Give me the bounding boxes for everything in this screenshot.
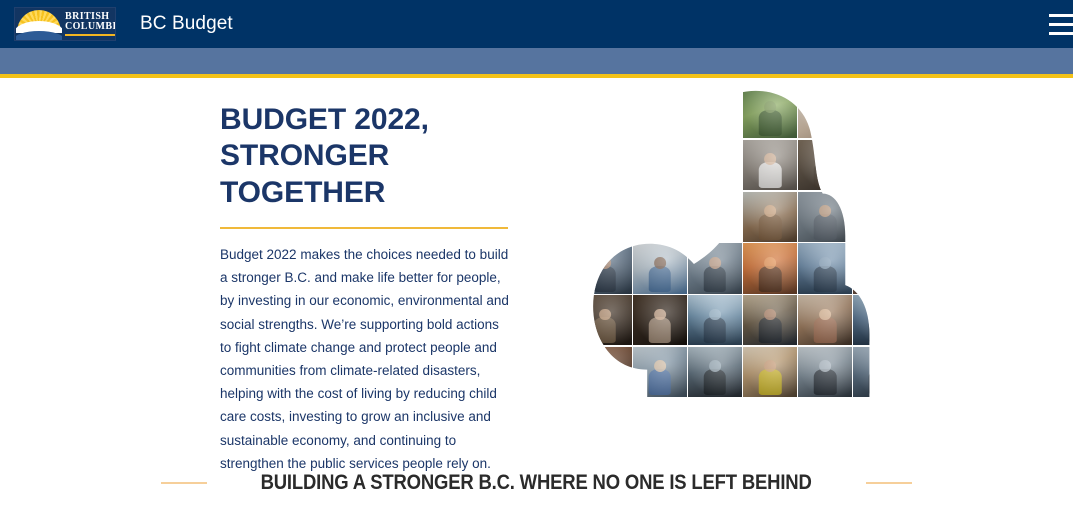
mosaic-person-body: [869, 317, 892, 343]
mosaic-person-head: [654, 257, 666, 269]
banner-dash-left: [161, 482, 207, 484]
page-title: BUDGET 2022, STRONGER TOGETHER: [220, 102, 512, 211]
mosaic-person-head: [764, 360, 776, 372]
logo-line-columbia: COLUMBIA: [65, 22, 116, 32]
title-divider: [220, 227, 508, 229]
mosaic-tile: [853, 192, 907, 242]
mosaic-tile: [578, 243, 632, 293]
mosaic-person-body: [759, 317, 782, 343]
mosaic-person-head: [819, 101, 831, 113]
mosaic-person-head: [709, 257, 721, 269]
mosaic-tile: [853, 140, 907, 190]
mosaic-person-body: [869, 214, 892, 240]
mosaic-tile: [633, 295, 687, 345]
mosaic-tile: [798, 295, 852, 345]
mosaic-tile: [798, 347, 852, 397]
mosaic-tile: [688, 347, 742, 397]
mosaic-person-head: [764, 101, 776, 113]
mosaic-person-body: [594, 317, 617, 343]
mosaic-person-body: [759, 162, 782, 188]
mosaic-person-body: [869, 369, 892, 395]
mosaic-grid: [578, 88, 900, 440]
mosaic-tile: [853, 347, 907, 397]
wave-blue-icon: [16, 31, 62, 40]
menu-bar-2: [1049, 23, 1073, 26]
menu-bar-1: [1049, 14, 1073, 17]
mosaic-person-head: [764, 205, 776, 217]
hero-section: BUDGET 2022, STRONGER TOGETHER Budget 20…: [0, 78, 1073, 448]
mosaic-tile: [798, 192, 852, 242]
mosaic-tile: [743, 347, 797, 397]
mosaic-person-body: [814, 266, 837, 292]
site-title[interactable]: BC Budget: [140, 13, 233, 35]
mosaic-tile: [853, 295, 907, 345]
mosaic-tile: [743, 140, 797, 190]
photo-mosaic-figure: [578, 88, 900, 440]
mosaic-person-body: [814, 369, 837, 395]
mosaic-person-head: [764, 257, 776, 269]
mosaic-tile: [633, 347, 687, 397]
mosaic-person-body: [704, 266, 727, 292]
mosaic-tile: [578, 347, 632, 397]
hamburger-menu-icon[interactable]: [1049, 14, 1073, 35]
menu-bar-3: [1049, 32, 1073, 35]
mosaic-person-body: [814, 214, 837, 240]
mosaic-person-body: [869, 162, 892, 188]
mosaic-person-head: [709, 360, 721, 372]
mosaic-person-body: [594, 369, 617, 395]
mosaic-person-body: [814, 162, 837, 188]
mosaic-person-body: [814, 110, 837, 136]
mosaic-person-head: [819, 257, 831, 269]
mosaic-person-head: [599, 309, 611, 321]
mosaic-person-head: [709, 309, 721, 321]
mosaic-tile: [743, 192, 797, 242]
mosaic-tile: [743, 295, 797, 345]
mosaic-tile: [688, 243, 742, 293]
mosaic-person-body: [649, 369, 672, 395]
bc-government-logo[interactable]: BRITISH COLUMBIA: [14, 7, 116, 41]
mosaic-person-body: [814, 317, 837, 343]
site-header: BRITISH COLUMBIA BC Budget: [0, 0, 1073, 48]
logo-gold-underline: [65, 34, 116, 36]
mosaic-person-head: [819, 205, 831, 217]
hero-description: Budget 2022 makes the choices needed to …: [220, 243, 510, 475]
mosaic-person-body: [869, 266, 892, 292]
tagline-banner: BUILDING A STRONGER B.C. WHERE NO ONE IS…: [0, 448, 1073, 518]
mosaic-tile: [688, 295, 742, 345]
mosaic-tile: [853, 243, 907, 293]
mosaic-tile: [578, 295, 632, 345]
mosaic-tile: [798, 88, 852, 138]
mosaic-person-head: [819, 153, 831, 165]
mosaic-tile: [798, 243, 852, 293]
mosaic-tile: [743, 88, 797, 138]
mosaic-person-body: [649, 317, 672, 343]
hero-text-column: BUDGET 2022, STRONGER TOGETHER Budget 20…: [220, 102, 512, 475]
mosaic-person-head: [599, 360, 611, 372]
mosaic-person-head: [764, 153, 776, 165]
mosaic-person-head: [874, 257, 886, 269]
mosaic-tile: [633, 243, 687, 293]
logo-wordmark: BRITISH COLUMBIA: [65, 12, 116, 36]
banner-dash-right: [866, 482, 912, 484]
mosaic-tile: [743, 243, 797, 293]
mosaic-person-body: [594, 266, 617, 292]
mosaic-person-body: [759, 369, 782, 395]
mosaic-person-body: [649, 266, 672, 292]
mosaic-person-head: [874, 153, 886, 165]
mosaic-person-head: [874, 309, 886, 321]
mosaic-tile: [798, 140, 852, 190]
banner-tagline: BUILDING A STRONGER B.C. WHERE NO ONE IS…: [261, 471, 812, 495]
mosaic-person-head: [599, 257, 611, 269]
mosaic-person-head: [874, 360, 886, 372]
mosaic-person-body: [759, 214, 782, 240]
mosaic-person-body: [704, 317, 727, 343]
mosaic-person-head: [654, 309, 666, 321]
mosaic-person-body: [759, 266, 782, 292]
mosaic-person-head: [819, 309, 831, 321]
bc-flag-icon: [16, 8, 62, 40]
mosaic-person-head: [764, 309, 776, 321]
mosaic-person-head: [654, 360, 666, 372]
mosaic-person-head: [819, 360, 831, 372]
secondary-nav-band: [0, 48, 1073, 74]
mosaic-person-body: [759, 110, 782, 136]
mosaic-person-body: [704, 369, 727, 395]
mosaic-person-head: [874, 205, 886, 217]
